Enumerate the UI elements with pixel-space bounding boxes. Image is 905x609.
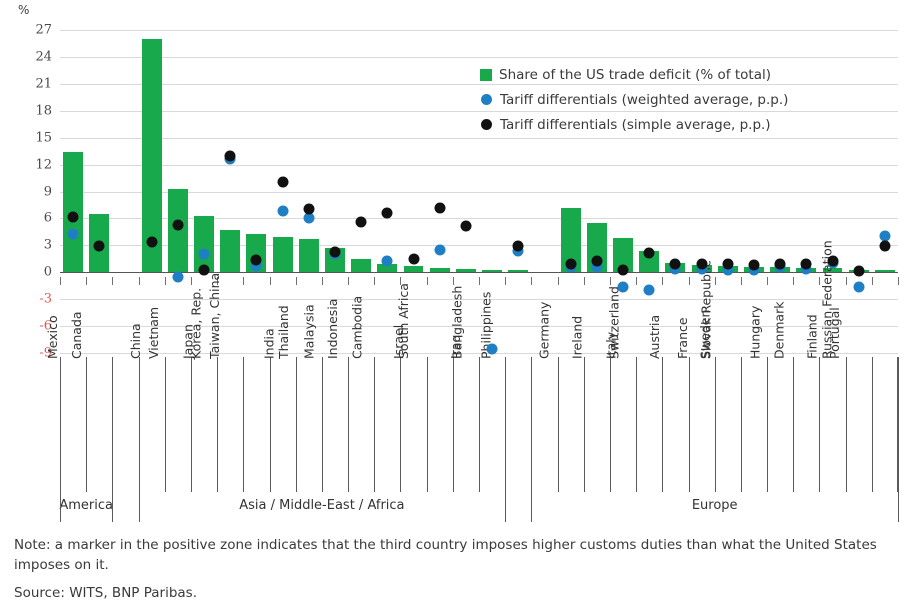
marker-tariff-simple-average	[225, 150, 236, 161]
category-label-text: Mexico	[45, 315, 60, 359]
category-label-separator	[793, 357, 794, 492]
x-axis-tickmark	[846, 277, 847, 285]
category-label-cell: Ireland	[584, 357, 610, 492]
chart-column	[243, 30, 269, 353]
x-axis-tickmark	[270, 277, 271, 285]
category-label-text: Taiwan, China	[207, 273, 222, 359]
marker-tariff-simple-average	[356, 217, 367, 228]
legend-dot-icon	[481, 119, 492, 130]
category-label-cell: China	[139, 357, 165, 492]
category-label-text: Canada	[69, 311, 84, 359]
x-axis-tickmark	[584, 277, 585, 285]
marker-tariff-weighted-average	[434, 244, 445, 255]
bar-share-of-us-trade-deficit	[482, 270, 502, 273]
marker-tariff-simple-average	[670, 259, 681, 270]
category-label-cell: Korea, Rep.	[217, 357, 243, 492]
chart-root: % 2724211815129630-3-6-9 MexicoCanadaChi…	[0, 0, 905, 609]
category-label-separator	[165, 357, 166, 492]
category-label-separator	[453, 357, 454, 492]
marker-tariff-simple-average	[513, 241, 524, 252]
marker-tariff-weighted-average	[382, 255, 393, 266]
bar-share-of-us-trade-deficit	[875, 270, 895, 273]
bar-share-of-us-trade-deficit	[168, 189, 188, 272]
category-label-text: Cambodia	[350, 296, 365, 359]
legend-dot-icon	[481, 94, 492, 105]
category-label-text: Austria	[647, 315, 662, 359]
marker-tariff-simple-average	[644, 248, 655, 259]
x-axis-tickmark	[296, 277, 297, 285]
chart-column	[165, 30, 191, 353]
category-label-separator	[819, 357, 820, 492]
category-label-text: Malaysia	[302, 304, 317, 359]
x-axis-tickmark	[610, 277, 611, 285]
group-separator	[531, 357, 532, 522]
marker-tariff-simple-average	[853, 266, 864, 277]
marker-tariff-simple-average	[434, 202, 445, 213]
marker-tariff-simple-average	[722, 259, 733, 270]
category-label-separator	[322, 357, 323, 492]
marker-tariff-simple-average	[565, 259, 576, 270]
x-axis-tickmark	[374, 277, 375, 285]
x-axis-tickmark	[348, 277, 349, 285]
category-label-cell: Thailand	[296, 357, 322, 492]
category-label-cell: Canada	[86, 357, 112, 492]
x-axis-tickmark	[636, 277, 637, 285]
legend-label: Tariff differentials (simple average, p.…	[500, 117, 771, 133]
x-axis-tickmark	[60, 277, 61, 285]
category-label-cell: France	[689, 357, 715, 492]
bar-share-of-us-trade-deficit	[508, 270, 528, 273]
marker-tariff-weighted-average	[487, 343, 498, 354]
x-axis-category-labels: MexicoCanadaChinaVietnamJapanKorea, Rep.…	[60, 357, 898, 492]
marker-tariff-simple-average	[382, 208, 393, 219]
y-axis-tick-label: 6	[6, 211, 52, 226]
x-axis-tickmark	[715, 277, 716, 285]
category-label-separator	[767, 357, 768, 492]
category-label-cell: Russian Federation	[872, 357, 898, 492]
y-axis-tick-label: 0	[6, 265, 52, 280]
y-axis-tick-label: 21	[6, 76, 52, 91]
y-axis-tick-label: 3	[6, 238, 52, 253]
x-axis-tickmark	[322, 277, 323, 285]
y-axis-tick-label: 15	[6, 130, 52, 145]
y-axis-tick-label: 9	[6, 184, 52, 199]
bar-share-of-us-trade-deficit	[299, 239, 319, 272]
category-label-spacer	[112, 357, 138, 492]
category-label-separator	[348, 357, 349, 492]
category-label-separator	[610, 357, 611, 492]
bar-share-of-us-trade-deficit	[351, 259, 371, 272]
bar-share-of-us-trade-deficit	[404, 266, 424, 272]
category-label-separator	[374, 357, 375, 492]
marker-tariff-weighted-average	[644, 285, 655, 296]
x-axis-tickmark	[139, 277, 140, 285]
x-axis-tickmark	[427, 277, 428, 285]
category-label-text: Korea, Rep.	[189, 288, 204, 359]
category-label-cell: Cambodia	[374, 357, 400, 492]
bar-share-of-us-trade-deficit	[273, 237, 293, 272]
category-label-separator	[872, 357, 873, 492]
category-label-cell: Iraq	[453, 357, 479, 492]
category-label-separator	[662, 357, 663, 492]
category-label-cell: Philippines	[505, 357, 531, 492]
category-label-text: Germany	[536, 302, 551, 359]
category-label-separator	[479, 357, 480, 492]
category-label-text: Vietnam	[146, 307, 161, 359]
group-separator	[898, 357, 899, 522]
marker-tariff-simple-average	[303, 204, 314, 215]
category-label-cell: Portugal	[846, 357, 872, 492]
marker-tariff-weighted-average	[172, 271, 183, 282]
group-separator	[139, 357, 140, 522]
x-axis-tickmark	[453, 277, 454, 285]
marker-tariff-simple-average	[460, 220, 471, 231]
marker-tariff-weighted-average	[618, 281, 629, 292]
group-label: Asia / Middle-East / Africa	[239, 498, 404, 513]
category-label-cell: Switzerland	[636, 357, 662, 492]
x-axis-tickmark	[872, 277, 873, 285]
category-label-cell: India	[270, 357, 296, 492]
marker-tariff-simple-average	[94, 241, 105, 252]
chart-column	[846, 30, 872, 353]
category-label-cell: Finland	[819, 357, 845, 492]
marker-tariff-weighted-average	[68, 228, 79, 239]
x-axis-tickmark	[505, 277, 506, 285]
legend-label: Tariff differentials (weighted average, …	[500, 92, 788, 108]
category-label-separator	[558, 357, 559, 492]
category-label-cell: Slovak Republic	[741, 357, 767, 492]
category-label-text: China	[128, 323, 143, 359]
bar-share-of-us-trade-deficit	[430, 268, 450, 272]
category-label-text: Ireland	[569, 316, 584, 359]
marker-tariff-simple-average	[277, 176, 288, 187]
marker-tariff-simple-average	[408, 253, 419, 264]
y-axis-unit-label: %	[18, 3, 29, 17]
x-axis-tickmark	[793, 277, 794, 285]
chart-column	[86, 30, 112, 353]
legend-square-icon	[480, 69, 492, 81]
x-axis-tickmark	[741, 277, 742, 285]
y-axis-tick-label: -3	[6, 292, 52, 307]
marker-tariff-simple-average	[748, 260, 759, 271]
group-label: Europe	[692, 498, 738, 513]
category-label-text: Slovak Republic	[699, 260, 714, 359]
category-label-cell: Israel	[400, 357, 426, 492]
category-label-cell: Hungary	[767, 357, 793, 492]
category-label-cell: Taiwan, China	[243, 357, 269, 492]
category-label-separator	[689, 357, 690, 492]
bar-share-of-us-trade-deficit	[456, 269, 476, 273]
category-label-separator	[741, 357, 742, 492]
category-label-cell: Denmark	[793, 357, 819, 492]
group-label: America	[59, 498, 113, 513]
category-label-separator	[636, 357, 637, 492]
chart-legend: Share of the US trade deficit (% of tota…	[480, 62, 788, 137]
y-axis-tick-label: 18	[6, 103, 52, 118]
group-separator	[112, 357, 113, 522]
category-label-separator	[715, 357, 716, 492]
category-label-text: Finland	[804, 314, 819, 359]
chart-column	[793, 30, 819, 353]
category-label-cell: Austria	[662, 357, 688, 492]
marker-tariff-simple-average	[801, 259, 812, 270]
bar-share-of-us-trade-deficit	[194, 216, 214, 273]
x-axis-tickmark	[165, 277, 166, 285]
x-axis-tickmark	[86, 277, 87, 285]
marker-tariff-simple-average	[879, 241, 890, 252]
x-axis-tickmarks	[60, 277, 898, 286]
x-axis-tickmark	[662, 277, 663, 285]
category-label-text: Indonesia	[325, 299, 340, 359]
category-label-cell: Sweden	[715, 357, 741, 492]
category-label-separator	[846, 357, 847, 492]
category-label-separator	[400, 357, 401, 492]
marker-tariff-simple-average	[827, 255, 838, 266]
chart-column-spacer	[112, 30, 138, 353]
x-axis-tickmark	[112, 277, 113, 285]
category-label-cell: South Africa	[427, 357, 453, 492]
category-label-cell: Bangladesh	[479, 357, 505, 492]
category-label-cell: Japan	[191, 357, 217, 492]
category-label-text: Hungary	[747, 306, 762, 359]
category-label-text: France	[675, 317, 690, 359]
category-label-text: Switzerland	[607, 286, 622, 359]
x-axis-tickmark	[898, 277, 899, 285]
y-axis-tick-label: 12	[6, 157, 52, 172]
chart-column	[60, 30, 86, 353]
category-label-separator	[191, 357, 192, 492]
chart-column	[139, 30, 165, 353]
category-label-text: Bangladesh	[449, 286, 464, 359]
marker-tariff-simple-average	[146, 236, 157, 247]
category-label-text: Denmark	[772, 302, 787, 359]
legend-item[interactable]: Tariff differentials (weighted average, …	[480, 87, 788, 112]
y-axis-tick-label: 27	[6, 23, 52, 38]
category-label-separator	[243, 357, 244, 492]
bar-share-of-us-trade-deficit	[220, 230, 240, 272]
category-label-text: India	[261, 328, 276, 359]
x-axis-tickmark	[558, 277, 559, 285]
footer-note: Note: a marker in the positive zone indi…	[14, 536, 898, 575]
x-axis-tickmark	[479, 277, 480, 285]
category-label-cell: Mexico	[60, 357, 86, 492]
footer-source: Source: WITS, BNP Paribas.	[14, 585, 898, 601]
group-separator	[505, 357, 506, 522]
marker-tariff-simple-average	[618, 265, 629, 276]
marker-tariff-simple-average	[251, 254, 262, 265]
category-label-cell: Italy	[610, 357, 636, 492]
marker-tariff-simple-average	[591, 255, 602, 266]
marker-tariff-weighted-average	[199, 249, 210, 260]
category-label-separator	[296, 357, 297, 492]
x-axis-tickmark	[767, 277, 768, 285]
marker-tariff-simple-average	[172, 219, 183, 230]
marker-tariff-simple-average	[775, 259, 786, 270]
category-label-cell: Germany	[558, 357, 584, 492]
legend-item[interactable]: Tariff differentials (simple average, p.…	[480, 112, 788, 137]
x-axis-tickmark	[191, 277, 192, 285]
y-axis-tick-label: 24	[6, 49, 52, 64]
category-label-cell: Malaysia	[322, 357, 348, 492]
chart-footer: Note: a marker in the positive zone indi…	[14, 536, 898, 601]
x-axis-tickmark	[689, 277, 690, 285]
marker-tariff-simple-average	[68, 211, 79, 222]
marker-tariff-simple-average	[329, 246, 340, 257]
category-label-cell: Vietnam	[165, 357, 191, 492]
legend-item[interactable]: Share of the US trade deficit (% of tota…	[480, 62, 788, 87]
marker-tariff-weighted-average	[277, 206, 288, 217]
category-label-separator	[270, 357, 271, 492]
marker-tariff-simple-average	[199, 265, 210, 276]
x-axis-tickmark	[531, 277, 532, 285]
group-separator	[60, 357, 61, 522]
category-label-cell: Indonesia	[348, 357, 374, 492]
x-axis-tickmark	[243, 277, 244, 285]
legend-label: Share of the US trade deficit (% of tota…	[499, 67, 771, 83]
category-label-separator	[217, 357, 218, 492]
category-label-separator	[427, 357, 428, 492]
category-label-text: South Africa	[396, 283, 411, 359]
category-label-separator	[86, 357, 87, 492]
marker-tariff-weighted-average	[853, 281, 864, 292]
category-label-text: Thailand	[276, 305, 291, 359]
category-label-separator	[584, 357, 585, 492]
marker-tariff-simple-average	[696, 259, 707, 270]
x-axis-group-band: AmericaAsia / Middle-East / AfricaEurope	[60, 492, 898, 522]
category-label-spacer	[531, 357, 557, 492]
chart-column	[872, 30, 898, 353]
